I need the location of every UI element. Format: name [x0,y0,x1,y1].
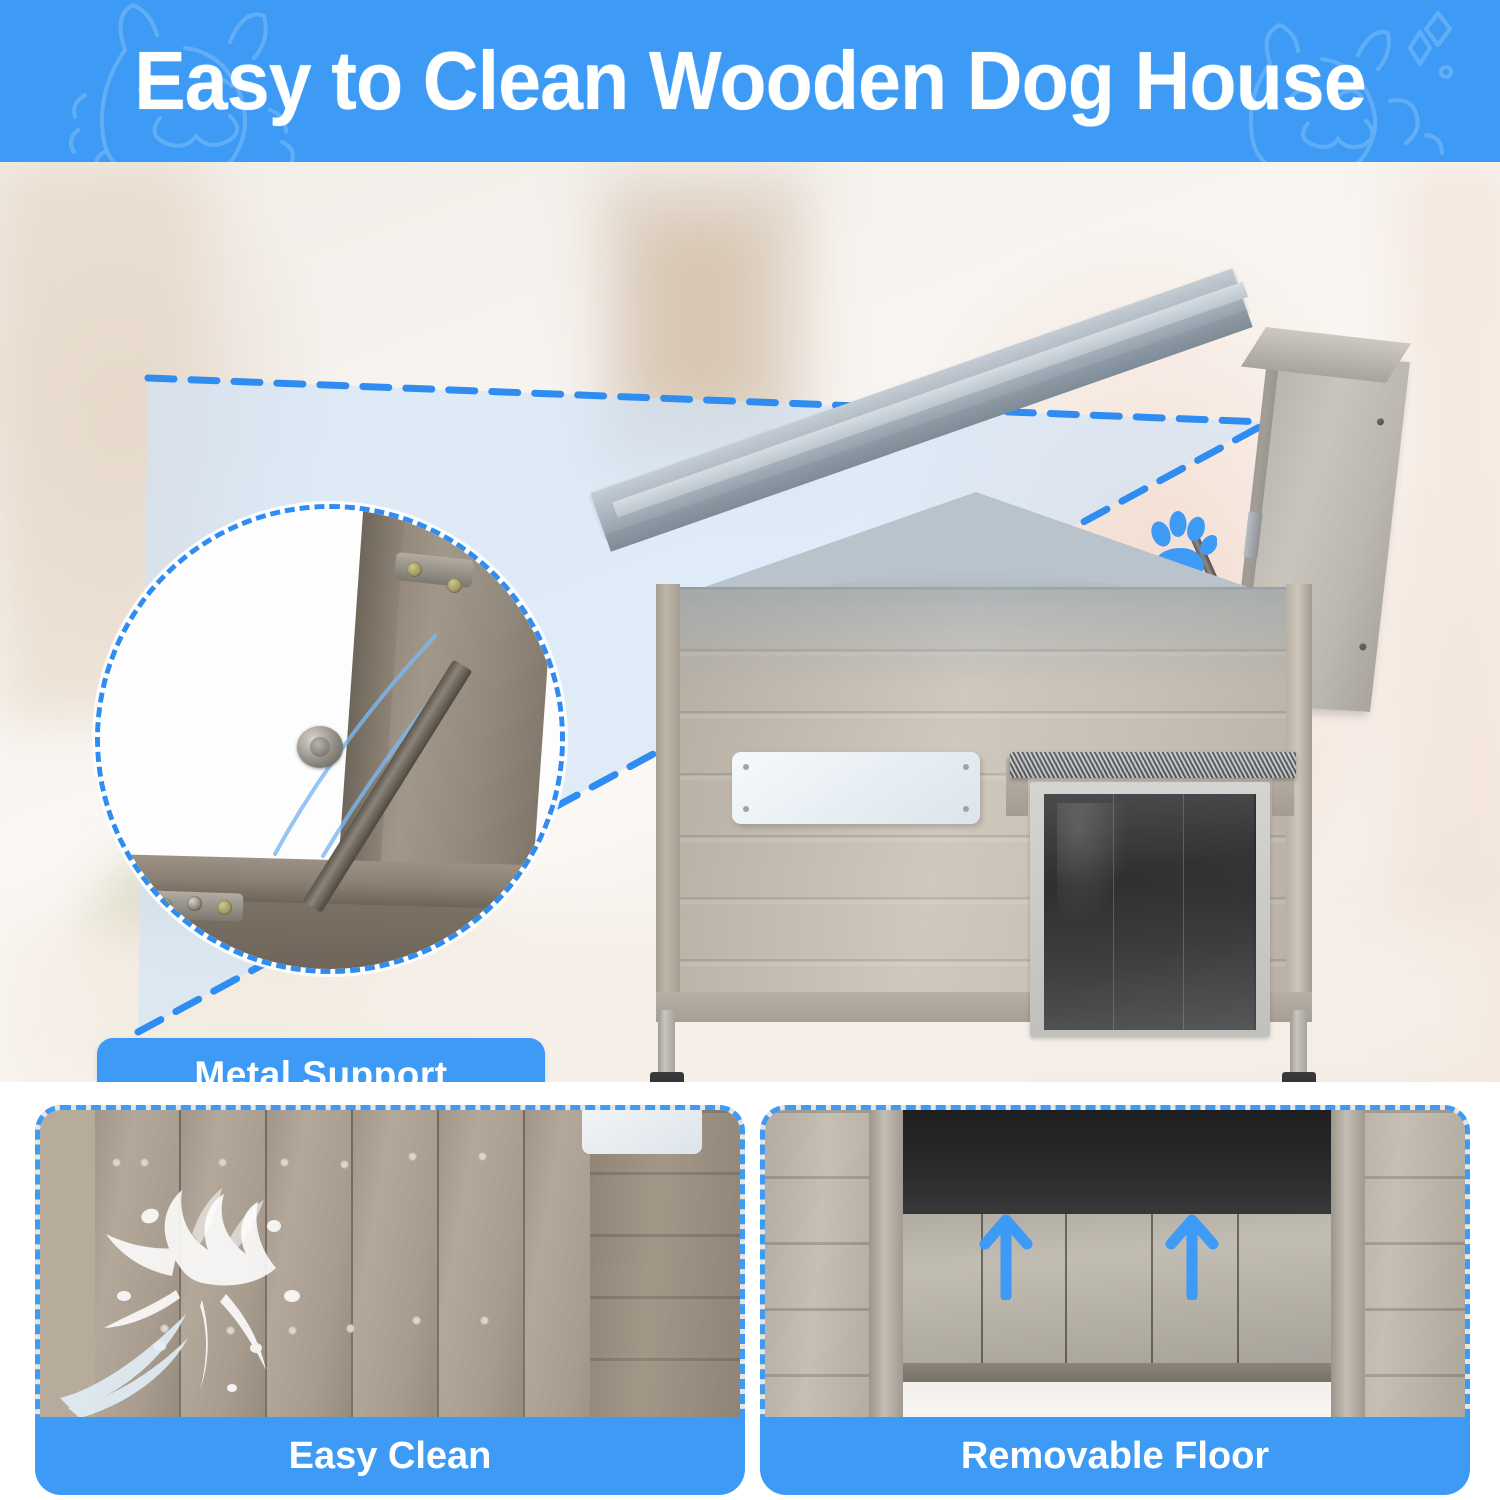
corner-post-right [1331,1110,1365,1423]
metal-support-label-text: Metal Support [194,1054,447,1082]
inset-screw [157,898,172,913]
metal-support-label: Metal Support [97,1038,545,1082]
side-nameplate [582,1105,702,1154]
inset-screw [407,562,422,577]
panel-easy-clean: Easy Clean [35,1105,745,1495]
panel-removable-floor: Removable Floor [760,1105,1470,1495]
corner-trim-left [656,584,680,1016]
foot-right [1282,1072,1316,1082]
easy-clean-label: Easy Clean [35,1417,745,1495]
dog-door [1030,782,1270,1037]
main-product-stage: Metal Support [0,162,1500,1082]
dog-house-product [560,192,1460,1082]
roof-edge-trim [612,282,1248,518]
water-splash [60,1138,360,1423]
door-opening [1044,794,1256,1030]
foot-left [650,1072,684,1082]
metal-support-callout-circle [95,504,565,974]
removable-plank-floor [903,1214,1335,1369]
corner-post-left [869,1110,903,1423]
house-wall-shadow [664,587,1298,687]
house-interior-dark [903,1110,1335,1220]
nameplate [732,752,980,824]
door-flap [1184,794,1254,1030]
inset-pivot-joint [297,726,343,768]
inset-pin [187,896,202,911]
door-sheen [1057,803,1129,926]
page-title: Easy to Clean Wooden Dog House [53,0,1448,162]
removable-floor-label: Removable Floor [760,1417,1470,1495]
inset-screw [447,578,462,593]
side-wall-siding [590,1110,745,1423]
removable-floor-media [760,1105,1470,1423]
lid-screw [1359,643,1367,650]
easy-clean-label-text: Easy Clean [289,1435,492,1478]
removable-floor-label-text: Removable Floor [961,1435,1269,1478]
door-awning [1010,752,1296,778]
arrow-up-icon [977,1210,1035,1300]
lid-screw [1377,418,1385,425]
header-banner: Easy to Clean Wooden Dog House [0,0,1500,162]
arrow-up-icon [1163,1210,1221,1300]
easy-clean-media [35,1105,745,1423]
inset-screw [217,900,232,915]
